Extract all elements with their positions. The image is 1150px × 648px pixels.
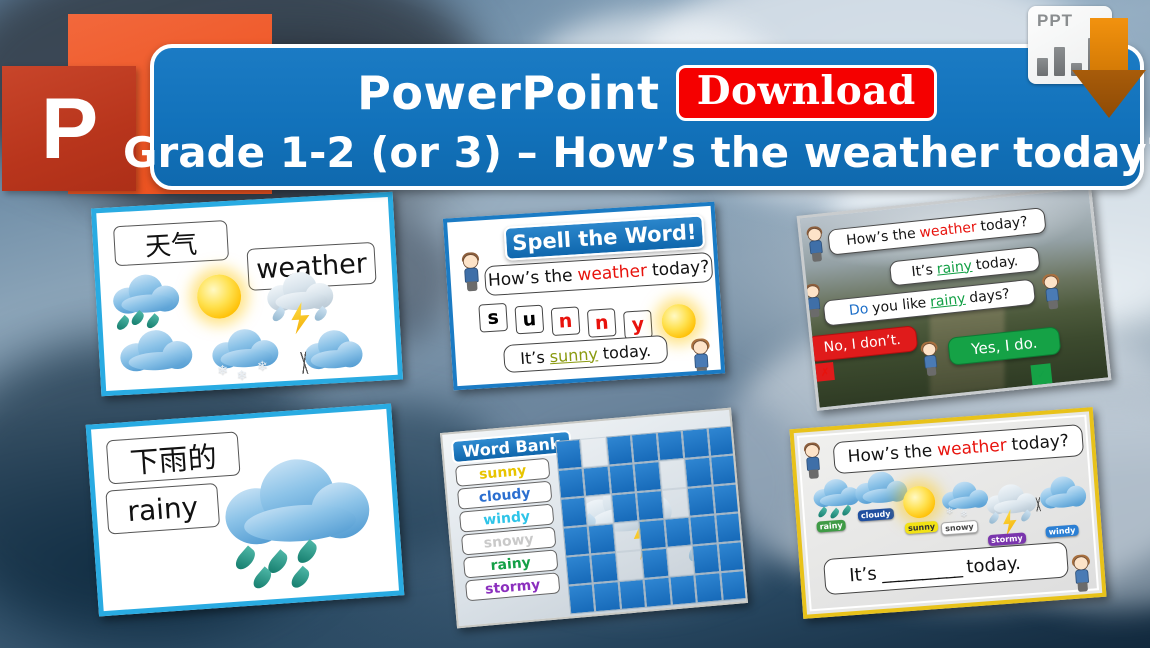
- snowflake-icon: ❄: [960, 511, 968, 521]
- speech-text: today.: [975, 253, 1019, 273]
- wrong-mark-badge[interactable]: ✗: [815, 362, 835, 382]
- spell-heading-label: Spell the Word!: [512, 220, 698, 256]
- weather-tag-label: windy: [1048, 526, 1075, 537]
- crossword-cell[interactable]: [616, 550, 644, 581]
- crossword-cell[interactable]: [568, 583, 596, 614]
- arrow-stem: [1090, 18, 1128, 72]
- page-title: PowerPoint: [357, 70, 660, 116]
- banner-subtitle: Grade 1-2 (or 3) – How’s the weather tod…: [123, 132, 1150, 174]
- crossword-cell[interactable]: [636, 490, 664, 521]
- speech-keyword: Do: [848, 301, 869, 319]
- question-part-3: today?: [651, 257, 710, 281]
- slide-fill-the-blank[interactable]: How’s the weather today? rainy cloudy su…: [789, 407, 1106, 619]
- letter-tile[interactable]: n: [587, 308, 617, 338]
- crossword-cell[interactable]: [712, 483, 740, 514]
- letter-tile-label: s: [487, 306, 500, 329]
- download-arrow-icon[interactable]: [1072, 18, 1146, 118]
- slide-vocabulary-rainy[interactable]: 下雨的 rainy: [86, 404, 405, 617]
- crossword-cell[interactable]: [662, 488, 690, 519]
- crossword-cell[interactable]: [682, 428, 710, 459]
- crossword-cell[interactable]: [664, 517, 692, 548]
- title-banner: PowerPoint Download Grade 1-2 (or 3) – H…: [150, 44, 1144, 190]
- letter-tile[interactable]: u: [515, 305, 545, 335]
- correct-mark-label: ✓: [1036, 367, 1047, 381]
- kid-girl-avatar: [920, 342, 940, 377]
- letter-tile-label: n: [594, 312, 609, 335]
- english-word-box: rainy: [105, 483, 220, 535]
- crossword-cell[interactable]: [558, 468, 586, 499]
- speech-keyword: rainy: [929, 291, 966, 311]
- arrow-head: [1072, 70, 1146, 118]
- sunny-sun-icon: [661, 303, 697, 339]
- weather-tag-label: stormy: [991, 534, 1023, 545]
- kid-boy-avatar: [805, 227, 826, 263]
- letter-tile[interactable]: n: [551, 306, 581, 336]
- question-keyword: weather: [936, 436, 1007, 461]
- wrong-mark-label: ✗: [820, 365, 831, 379]
- crossword-cell[interactable]: [586, 494, 614, 525]
- snowflake-icon: ❄: [257, 360, 269, 374]
- answer-bubble: It’s sunny today.: [503, 335, 668, 373]
- kid-boy-avatar: [804, 285, 824, 319]
- crossword-cell[interactable]: [563, 526, 591, 557]
- crossword-cell[interactable]: [583, 466, 611, 497]
- speech-text: days?: [969, 286, 1011, 306]
- weather-tag-label: cloudy: [861, 509, 891, 520]
- kid-girl-avatar: [691, 340, 712, 378]
- crossword-grid[interactable]: [555, 426, 746, 615]
- answer-keyword: sunny: [549, 344, 598, 366]
- weather-tag-snowy[interactable]: snowy: [941, 520, 978, 536]
- crossword-cell[interactable]: [588, 523, 616, 554]
- weather-tag-label: rainy: [819, 521, 843, 532]
- kid-boy-avatar: [461, 254, 482, 293]
- crossword-cell[interactable]: [656, 430, 684, 461]
- question-part-1: How’s the: [847, 441, 933, 467]
- chinese-word: 下雨的: [128, 434, 218, 482]
- crossword-cell[interactable]: [639, 519, 667, 550]
- rainy-cloud-icon: [110, 271, 182, 315]
- ppt-label: PPT: [1037, 11, 1073, 31]
- banner-row-title: PowerPoint Download: [357, 60, 937, 126]
- crossword-cell[interactable]: [669, 574, 697, 605]
- crossword-cell[interactable]: [580, 437, 608, 468]
- cloudy-cloud-icon: [117, 326, 195, 372]
- crossword-cell[interactable]: [641, 548, 669, 579]
- crossword-cell[interactable]: [707, 426, 735, 457]
- crossword-cell[interactable]: [659, 459, 687, 490]
- weather-tag-label: sunny: [908, 522, 936, 533]
- crossword-cell[interactable]: [593, 581, 621, 612]
- crossword-cell[interactable]: [684, 457, 712, 488]
- word-bank-item-label: rainy: [490, 554, 531, 573]
- kid-boy-avatar: [803, 444, 823, 480]
- crossword-cell[interactable]: [717, 541, 745, 572]
- letter-tile-label: u: [522, 308, 537, 331]
- crossword-cell[interactable]: [613, 521, 641, 552]
- word-bank-item-label: cloudy: [478, 485, 531, 505]
- snowy-cloud-icon: [940, 479, 990, 510]
- english-word: rainy: [126, 490, 199, 528]
- crossword-cell[interactable]: [720, 570, 746, 601]
- word-bank-item-label: snowy: [483, 531, 534, 551]
- chinese-word: 天气: [144, 223, 198, 263]
- wind-lines: [290, 351, 319, 375]
- snowflake-icon: ❄: [236, 369, 248, 383]
- speech-keyword: weather: [919, 219, 978, 241]
- speech-text: you like: [871, 295, 927, 317]
- letter-tile-label: n: [558, 310, 573, 333]
- word-bank-item-label: sunny: [478, 462, 527, 482]
- download-button[interactable]: Download: [676, 65, 937, 121]
- slide-vocabulary-weather[interactable]: 天气 weather: [91, 192, 403, 397]
- crossword-cell[interactable]: [687, 486, 715, 517]
- question-part-3: today?: [1011, 431, 1070, 455]
- answer-part-1: It’s: [520, 347, 546, 367]
- powerpoint-logo-letter: P: [2, 66, 136, 191]
- crossword-cell[interactable]: [689, 514, 717, 545]
- letter-tile[interactable]: s: [478, 303, 508, 333]
- slide-dialogue-rainy[interactable]: How’s the weather today? It’s rainy toda…: [797, 185, 1112, 411]
- letter-tile-label: y: [631, 313, 645, 336]
- crossword-cell[interactable]: [644, 577, 672, 608]
- question-keyword: weather: [577, 261, 648, 285]
- answer-part-3: today.: [602, 340, 651, 362]
- word-bank-item-label: stormy: [484, 576, 540, 597]
- crossword-cell[interactable]: [555, 439, 583, 470]
- speech-text: It’s: [911, 262, 934, 280]
- kid-girl-avatar: [1042, 275, 1063, 311]
- crossword-cell[interactable]: [715, 512, 743, 543]
- word-bank-item-label: windy: [483, 508, 531, 528]
- answer-suffix: today.: [966, 552, 1022, 577]
- speech-text: Yes, I do.: [970, 334, 1038, 359]
- powerpoint-logo-red: P: [2, 66, 136, 191]
- chinese-word-box: 天气: [113, 220, 229, 266]
- ppt-download-icon[interactable]: PPT: [1024, 2, 1150, 126]
- crossword-cell[interactable]: [667, 546, 695, 577]
- crossword-cell[interactable]: [631, 432, 659, 463]
- correct-mark-badge[interactable]: ✓: [1030, 363, 1052, 385]
- slide-spell-the-word[interactable]: Spell the Word! How’s the weather today?…: [443, 202, 725, 391]
- rainy-cloud-icon: [220, 452, 375, 546]
- question-part-1: How’s the: [487, 266, 573, 291]
- speech-text: No, I don’t.: [823, 332, 901, 356]
- crossword-cell[interactable]: [608, 463, 636, 494]
- crossword-cell[interactable]: [565, 554, 593, 585]
- crossword-cell[interactable]: [710, 454, 738, 485]
- crossword-cell[interactable]: [591, 552, 619, 583]
- crossword-cell[interactable]: [560, 497, 588, 528]
- wind-lines: [1029, 497, 1048, 512]
- crossword-cell[interactable]: [634, 461, 662, 492]
- crossword-cell[interactable]: [694, 572, 722, 603]
- crossword-cell[interactable]: [692, 543, 720, 574]
- crossword-cell[interactable]: [618, 579, 646, 610]
- speech-keyword: rainy: [936, 257, 973, 277]
- kid-girl-avatar: [1072, 556, 1093, 593]
- answer-blank[interactable]: __________: [881, 557, 962, 584]
- cloudy-cloud-icon: [853, 469, 909, 505]
- snowflake-icon: ❄: [946, 508, 954, 518]
- speech-text: How’s the: [845, 226, 916, 249]
- slide-word-bank[interactable]: Word Bank sunny cloudy windy snowy rainy…: [440, 408, 748, 629]
- crossword-cell[interactable]: [611, 492, 639, 523]
- weather-tag-rainy[interactable]: rainy: [816, 520, 846, 533]
- answer-prefix: It’s: [849, 563, 878, 586]
- weather-tag-label: snowy: [945, 522, 974, 533]
- speech-text: today?: [980, 214, 1029, 235]
- crossword-cell[interactable]: [606, 434, 634, 465]
- snowflake-icon: ❄: [217, 364, 229, 378]
